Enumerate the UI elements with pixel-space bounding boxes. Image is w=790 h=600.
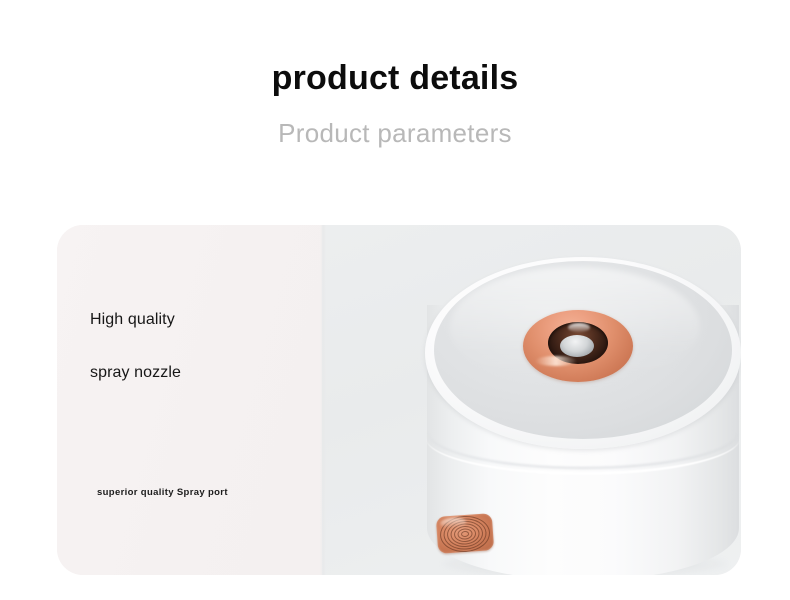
card-left-panel: High quality spray nozzle superior quali…: [57, 225, 322, 575]
product-details-page: product details Product parameters High …: [0, 0, 790, 600]
spray-nozzle-core: [560, 335, 594, 357]
caption-line-1: High quality: [90, 310, 305, 330]
power-button-icon: [436, 513, 494, 554]
page-subtitle: Product parameters: [0, 117, 790, 149]
spray-nozzle-highlight: [568, 323, 590, 332]
caption-small-text: superior quality Spray port: [97, 487, 228, 499]
product-card: High quality spray nozzle superior quali…: [57, 225, 741, 575]
product-image: [322, 225, 741, 575]
caption-block: High quality spray nozzle: [90, 310, 305, 383]
page-title: product details: [0, 58, 790, 98]
spray-nozzle-edge-highlight: [535, 356, 577, 366]
caption-line-2: spray nozzle: [90, 363, 305, 383]
rim-highlight-line: [426, 401, 740, 475]
